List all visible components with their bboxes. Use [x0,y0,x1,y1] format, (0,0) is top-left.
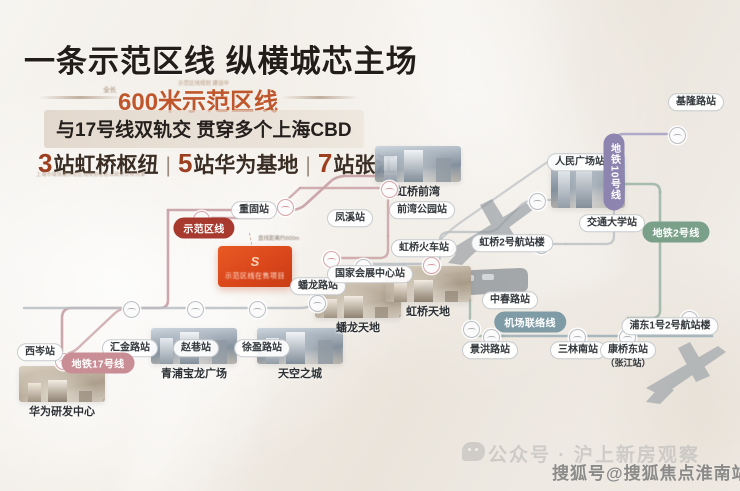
poi-label: 天空之城 [257,365,343,381]
station-node-panlonglu[interactable] [309,295,326,312]
station-label-guojiahuizhan[interactable]: 国家会展中心站 [327,265,413,283]
line-badge-metro10[interactable]: 地铁10号线 [604,133,625,210]
station-label-hongqiaot2[interactable]: 虹桥2号航站楼 [471,234,553,252]
project-marker[interactable]: S 示范区线在售项目 [218,246,292,287]
wechat-icon [462,442,485,461]
poi-label: 蟠龙天地 [315,319,401,335]
poi-huawei[interactable]: 华为研发中心 [19,366,105,419]
station-node-qianwangongyuan[interactable] [381,181,398,198]
station-label-jiaotongdaxue[interactable]: 交通大学站 [579,214,645,232]
station-node-zhongchunlu[interactable] [463,321,480,338]
project-logo-mark: S [218,254,292,269]
transit-lines [0,60,740,460]
station-label-xicen[interactable]: 西岑站 [17,343,63,361]
watermark-sohu: 搜狐号@搜狐焦点淮南站 [552,459,740,484]
station-label-zhongchunlu[interactable]: 中春路站 [482,291,538,309]
line-badge-metro17[interactable]: 地铁17号线 [62,353,135,374]
station-node-huijinlu[interactable] [123,301,140,318]
distance-note: 直线距离约600m [258,234,299,242]
poi-label: 青浦宝龙广场 [151,365,237,381]
station-label-sanlinnan[interactable]: 三林南站 [550,341,606,359]
line-badge-shifanqu[interactable]: 示范区线 [173,218,234,239]
project-name: 示范区线在售项目 [218,271,292,281]
promo-image: 一条示范区线 纵横城芯主场 示范区线规划 建设中 全长 600米示范区线 与17… [0,0,740,491]
station-node-renminguangchang[interactable] [529,193,546,210]
station-label-kangqiaodong[interactable]: 康桥东站 [600,341,656,359]
poi-thumbnail [375,146,461,182]
poi-label: 华为研发中心 [19,403,105,419]
station-node-fengxi[interactable] [277,199,294,216]
station-node-jilonglu[interactable] [669,127,686,144]
station-label-pudongt12[interactable]: 浦东1号2号航站楼 [621,317,718,335]
station-label-xuyinglu[interactable]: 徐盈路站 [234,339,290,357]
station-label-qianwangongyuan[interactable]: 前湾公园站 [389,201,455,219]
station-node-hongqiaot2[interactable] [423,257,440,274]
station-node-zhaoxiang[interactable] [187,301,204,318]
station-label-hongqiaohuoche[interactable]: 虹桥火车站 [391,239,457,257]
station-label-kangqiaodong-alt: （张江站） [605,358,650,368]
station-label-jinghonglu[interactable]: 景洪路站 [462,341,518,359]
station-label-fengxi[interactable]: 凤溪站 [327,209,373,227]
station-label-zhonggu[interactable]: 重固站 [231,201,277,219]
poi-label: 虹桥天地 [385,303,471,319]
station-label-jilonglu[interactable]: 基隆路站 [668,93,724,111]
transit-map: S 示范区线在售项目 直线距离约600m [0,60,740,460]
line-badge-metro2[interactable]: 地铁2号线 [642,222,709,243]
station-label-zhaoxiang[interactable]: 赵巷站 [173,339,219,357]
station-node-xuyinglu[interactable] [249,301,266,318]
line-badge-airport-link[interactable]: 机场联络线 [494,312,566,333]
